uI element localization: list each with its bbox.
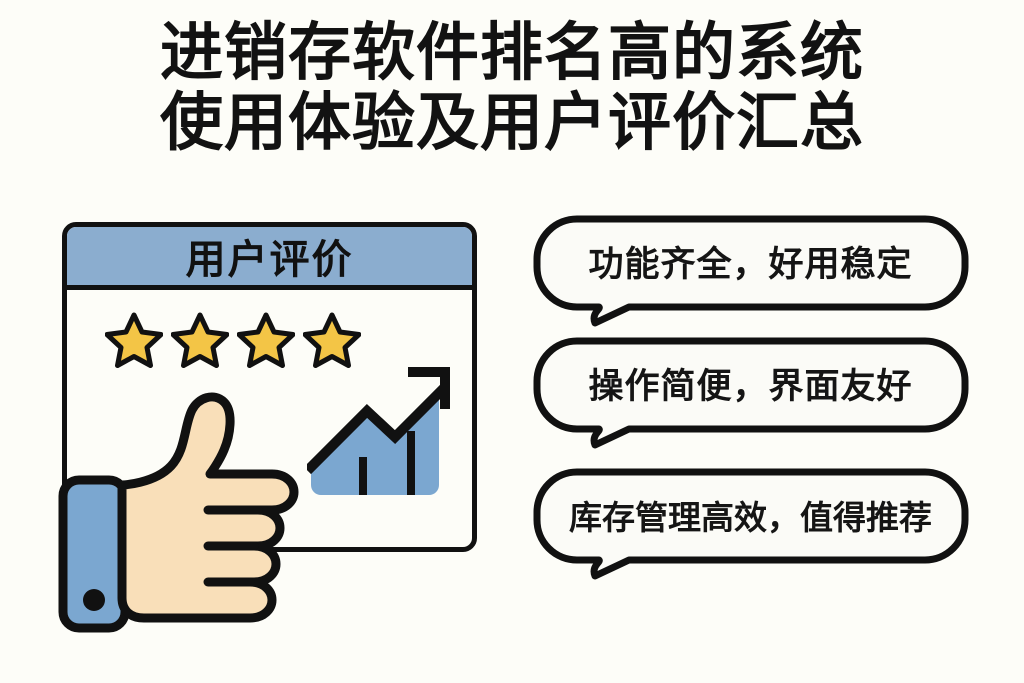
testimonial-text: 功能齐全，好用稳定 [533,215,968,308]
title-line-1: 进销存软件排名高的系统 [0,18,1024,88]
testimonial-bubble[interactable]: 功能齐全，好用稳定 [533,215,968,315]
card-header: 用户评价 [67,227,472,290]
star-icon [105,312,163,368]
card-header-title: 用户评价 [186,227,354,285]
testimonial-text: 操作简便，界面友好 [533,337,968,430]
testimonial-bubble[interactable]: 操作简便，界面友好 [533,337,968,437]
star-icon [237,312,295,368]
testimonial-bubble[interactable]: 库存管理高效，值得推荐 [533,468,968,568]
thumbs-up-icon [58,388,368,638]
testimonial-bubble-list: 功能齐全，好用稳定 操作简便，界面友好 库存管理高效，值得推荐 [533,215,993,585]
poster-canvas: 进销存软件排名高的系统 使用体验及用户评价汇总 用户评价 [0,0,1024,683]
testimonial-text: 库存管理高效，值得推荐 [533,468,968,561]
star-icon [171,312,229,368]
title-line-2: 使用体验及用户评价汇总 [0,88,1024,158]
page-title: 进销存软件排名高的系统 使用体验及用户评价汇总 [0,18,1024,158]
